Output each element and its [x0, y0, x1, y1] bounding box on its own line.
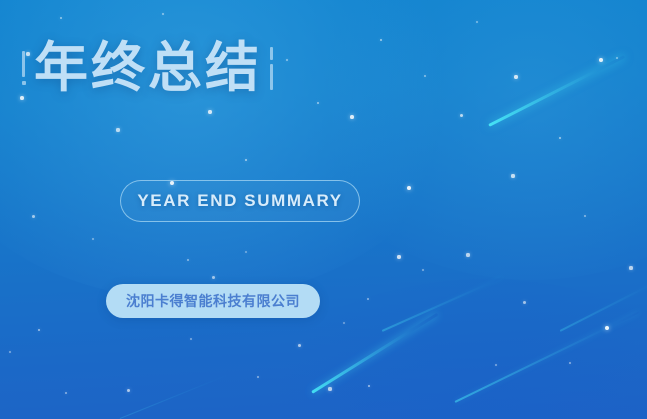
star-dot [212, 276, 215, 279]
star-dot [514, 75, 517, 78]
star-dot [599, 58, 603, 62]
star-dot [60, 17, 63, 20]
title-block: 年终总结 [14, 32, 281, 104]
meteor-far-right [560, 280, 647, 331]
star-dot [523, 301, 526, 304]
meteor-left-faint [382, 276, 503, 331]
meteor-bottom-edge [120, 373, 232, 419]
star-dot [317, 102, 320, 105]
star-dot [92, 238, 94, 240]
star-dot [162, 13, 164, 15]
year-end-summary-label: YEAR END SUMMARY [137, 191, 342, 211]
star-dot [343, 322, 345, 324]
star-dot [116, 128, 119, 131]
company-name-label: 沈阳卡得智能科技有限公司 [126, 291, 300, 311]
star-dot [9, 351, 11, 353]
title-right-mark-icon [262, 45, 281, 91]
star-dot [424, 75, 427, 78]
star-dot [286, 59, 288, 61]
meteor-top-right [488, 55, 625, 127]
meteor-center-bottom [311, 313, 438, 394]
title-left-mark-icon [14, 45, 34, 91]
star-dot [38, 329, 41, 332]
star-dot [569, 362, 572, 365]
star-dot [511, 174, 514, 177]
star-dot [368, 385, 371, 388]
star-dot [422, 269, 424, 271]
company-name-badge[interactable]: 沈阳卡得智能科技有限公司 [106, 284, 320, 318]
star-dot [460, 114, 463, 117]
background-glow-top-right [297, 0, 647, 280]
star-dot [616, 57, 619, 60]
star-dot [466, 253, 469, 256]
year-end-summary-cover-slide: 年终总结 YEAR END SUMMARY 沈阳卡得智能科技有限公司 [0, 0, 647, 419]
star-dot [407, 186, 411, 190]
meteor-lower-right [455, 311, 640, 403]
star-dot [32, 215, 35, 218]
star-dot [367, 298, 370, 301]
star-dot [397, 255, 400, 258]
star-dot [187, 259, 190, 262]
star-dot [584, 215, 587, 218]
star-dot [629, 266, 632, 269]
star-dot [328, 387, 331, 390]
star-dot [605, 326, 609, 330]
star-dot [350, 115, 354, 119]
star-dot [476, 21, 478, 23]
star-dot [298, 344, 301, 347]
star-dot [208, 110, 211, 113]
star-dot [245, 251, 247, 253]
year-end-summary-pill[interactable]: YEAR END SUMMARY [120, 180, 360, 222]
star-dot [190, 338, 192, 340]
star-dot [245, 159, 248, 162]
star-dot [380, 39, 383, 42]
star-dot [495, 364, 497, 366]
star-dot [257, 376, 260, 379]
star-dot [127, 389, 130, 392]
star-dot [559, 137, 562, 140]
page-title: 年终总结 [34, 41, 262, 95]
star-dot [65, 392, 68, 395]
